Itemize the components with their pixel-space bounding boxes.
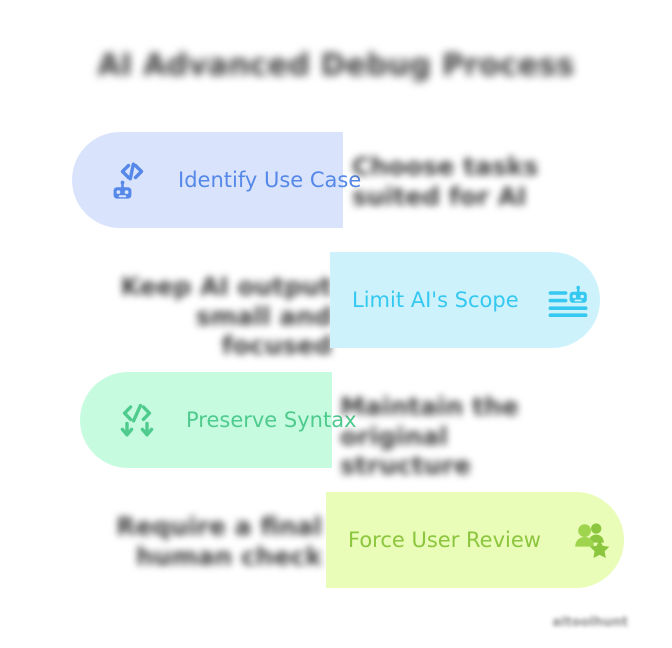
step-row-2: Keep AI output small and focused Limit A… [0,252,672,348]
page-title: AI Advanced Debug Process [0,48,672,83]
step-description-3: Maintain the original structure [340,392,566,481]
step-description-1: Choose tasks suited for AI [352,152,572,211]
step-row-3: Preserve Syntax Maintain the original st… [0,372,672,468]
step-row-4: Require a final human check Force User R… [0,492,672,588]
step-description-4: Require a final human check [92,512,322,571]
step-label-3: Preserve Syntax [186,408,357,432]
hands-code-icon [114,397,160,443]
step-pill-force-user-review[interactable]: Force User Review [326,492,624,588]
robot-lines-icon [545,277,591,323]
step-row-1: Identify Use Case Choose tasks suited fo… [0,132,672,228]
step-pill-preserve-syntax[interactable]: Preserve Syntax [80,372,332,468]
step-label-2: Limit AI's Scope [352,288,519,312]
robot-code-icon [106,157,152,203]
step-label-4: Force User Review [348,528,541,552]
step-description-2: Keep AI output small and focused [108,272,332,361]
step-pill-identify-use-case[interactable]: Identify Use Case [72,132,343,228]
watermark: aitoolhunt [552,615,628,630]
infographic-canvas: AI Advanced Debug Process [0,0,672,648]
step-label-1: Identify Use Case [178,168,361,192]
step-pill-limit-ai-scope[interactable]: Limit AI's Scope [330,252,600,348]
users-star-icon [567,517,613,563]
